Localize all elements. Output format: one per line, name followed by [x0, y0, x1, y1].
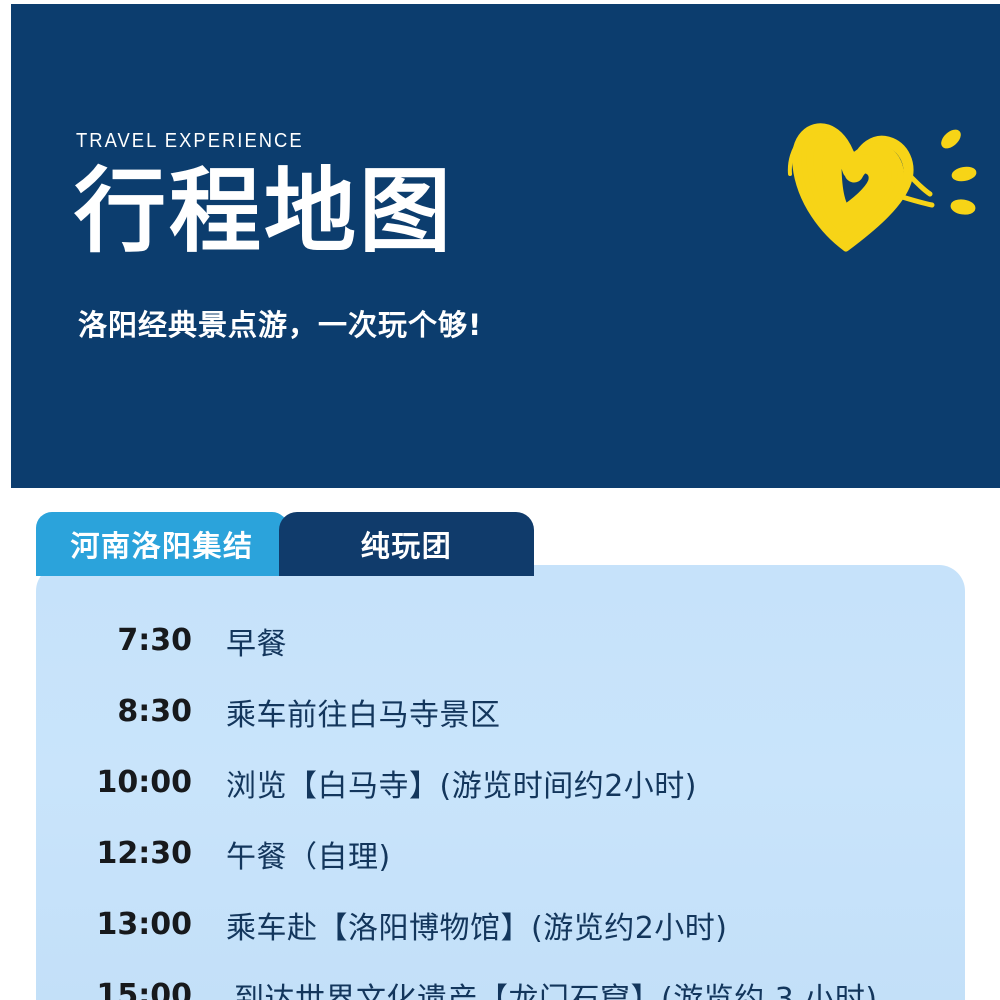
scribble-heart-icon: [766, 104, 996, 264]
schedule-row: 15:00 到达世界文化遗产【龙门石窟】(游览约 3 小时): [36, 960, 965, 1000]
schedule-row-text: 到达世界文化遗产【龙门石窟】(游览约 3 小时): [234, 974, 878, 1000]
schedule-row-text: 午餐（自理): [226, 832, 391, 876]
schedule-row-text: 早餐: [226, 619, 287, 663]
schedule-row-time: 7:30: [64, 623, 192, 658]
schedule-row: 12:30 午餐（自理): [36, 818, 965, 889]
page-title: 行程地图: [74, 162, 454, 261]
schedule-row-time: 13:00: [64, 907, 192, 942]
schedule-row: 8:30 乘车前往白马寺景区: [36, 676, 965, 747]
page-root: TRAVEL EXPERIENCE 行程地图 洛阳经典景点游，一次玩个够!: [0, 0, 1000, 1000]
hero-banner: TRAVEL EXPERIENCE 行程地图 洛阳经典景点游，一次玩个够!: [11, 4, 1000, 488]
schedule-row-time: 15:00: [64, 978, 192, 1000]
tab-henan-luoyang-assembly[interactable]: 河南洛阳集结: [36, 512, 288, 576]
schedule-row-text: 乘车赴【洛阳博物馆】(游览约2小时): [226, 903, 728, 947]
hero-eyebrow: TRAVEL EXPERIENCE: [76, 130, 304, 153]
schedule-row-time: 8:30: [64, 694, 192, 729]
schedule-list: 7:30 早餐 8:30 乘车前往白马寺景区 10:00 浏览【白马寺】(游览时…: [36, 605, 965, 1000]
schedule-row: 10:00 浏览【白马寺】(游览时间约2小时): [36, 747, 965, 818]
schedule-row: 13:00 乘车赴【洛阳博物馆】(游览约2小时): [36, 889, 965, 960]
itinerary-card: 7:30 早餐 8:30 乘车前往白马寺景区 10:00 浏览【白马寺】(游览时…: [36, 565, 965, 1000]
hero-subtitle: 洛阳经典景点游，一次玩个够!: [78, 302, 482, 344]
schedule-row-time: 10:00: [64, 765, 192, 800]
hero-text-block: TRAVEL EXPERIENCE 行程地图 洛阳经典景点游，一次玩个够!: [68, 4, 768, 488]
schedule-row-time: 12:30: [64, 836, 192, 871]
schedule-row-text: 乘车前往白马寺景区: [226, 690, 501, 734]
tab-pure-play-group[interactable]: 纯玩团: [279, 512, 534, 576]
schedule-row: 7:30 早餐: [36, 605, 965, 676]
schedule-row-text: 浏览【白马寺】(游览时间约2小时): [226, 761, 697, 805]
